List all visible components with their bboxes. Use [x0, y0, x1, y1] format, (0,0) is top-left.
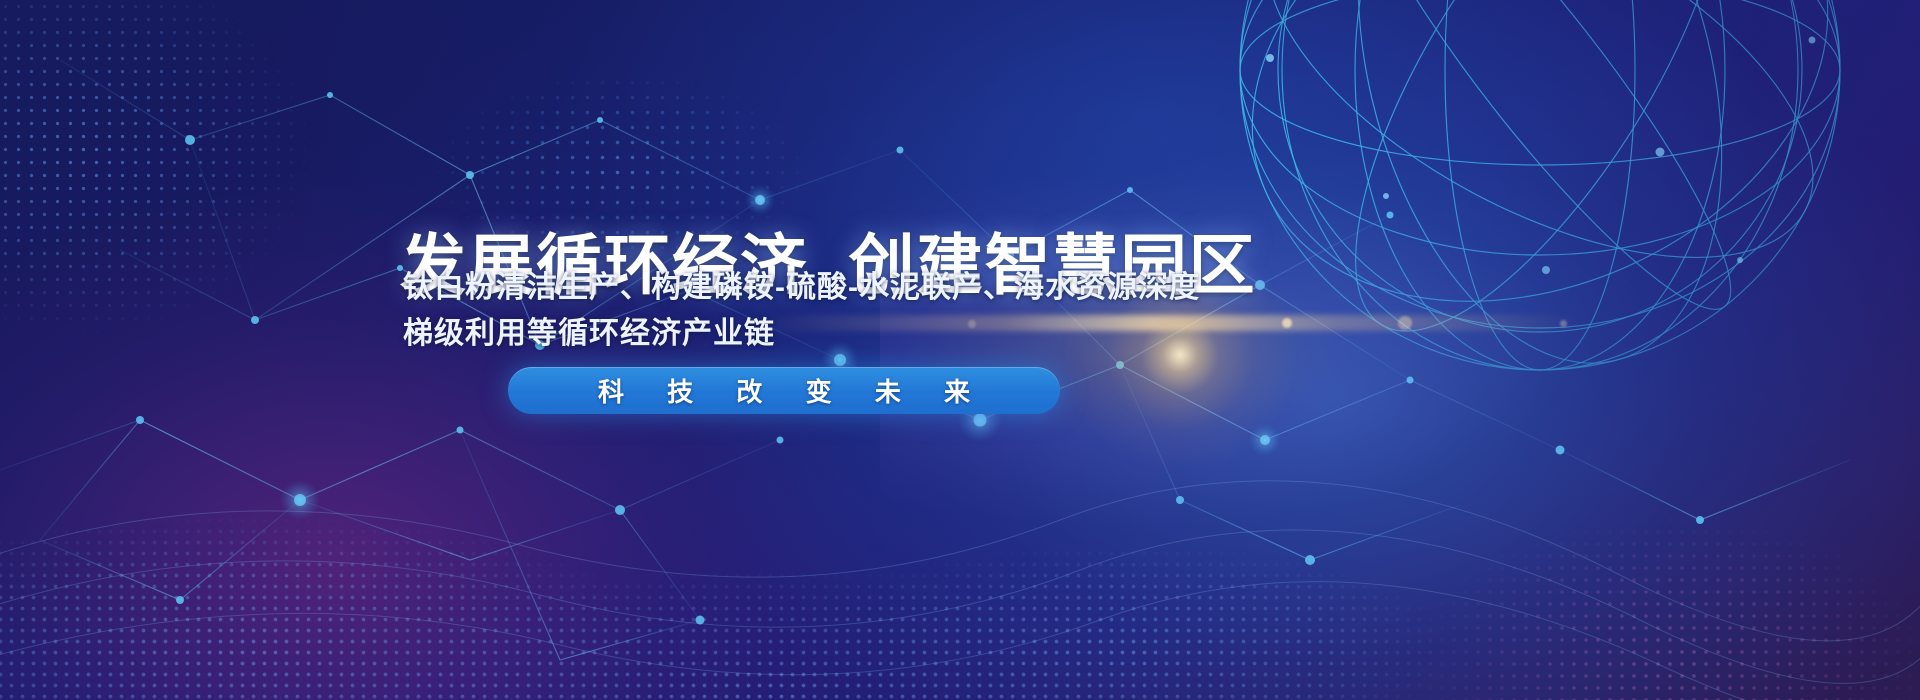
banner-content: 发展循环经济 创建智慧园区 钛白粉清洁生产、构建磷铵-硫酸-水泥联产、海水资源深…	[0, 0, 1920, 700]
cta-button[interactable]: 科 技 改 变 未 来	[508, 367, 1060, 414]
banner-subtitle-line-2: 梯级利用等循环经济产业链	[403, 308, 775, 352]
banner-subtitle-line-1: 钛白粉清洁生产、构建磷铵-硫酸-水泥联产、海水资源深度	[403, 262, 1200, 306]
hero-banner: 发展循环经济 创建智慧园区 钛白粉清洁生产、构建磷铵-硫酸-水泥联产、海水资源深…	[0, 0, 1920, 700]
cta-button-label: 科 技 改 变 未 来	[580, 372, 988, 409]
